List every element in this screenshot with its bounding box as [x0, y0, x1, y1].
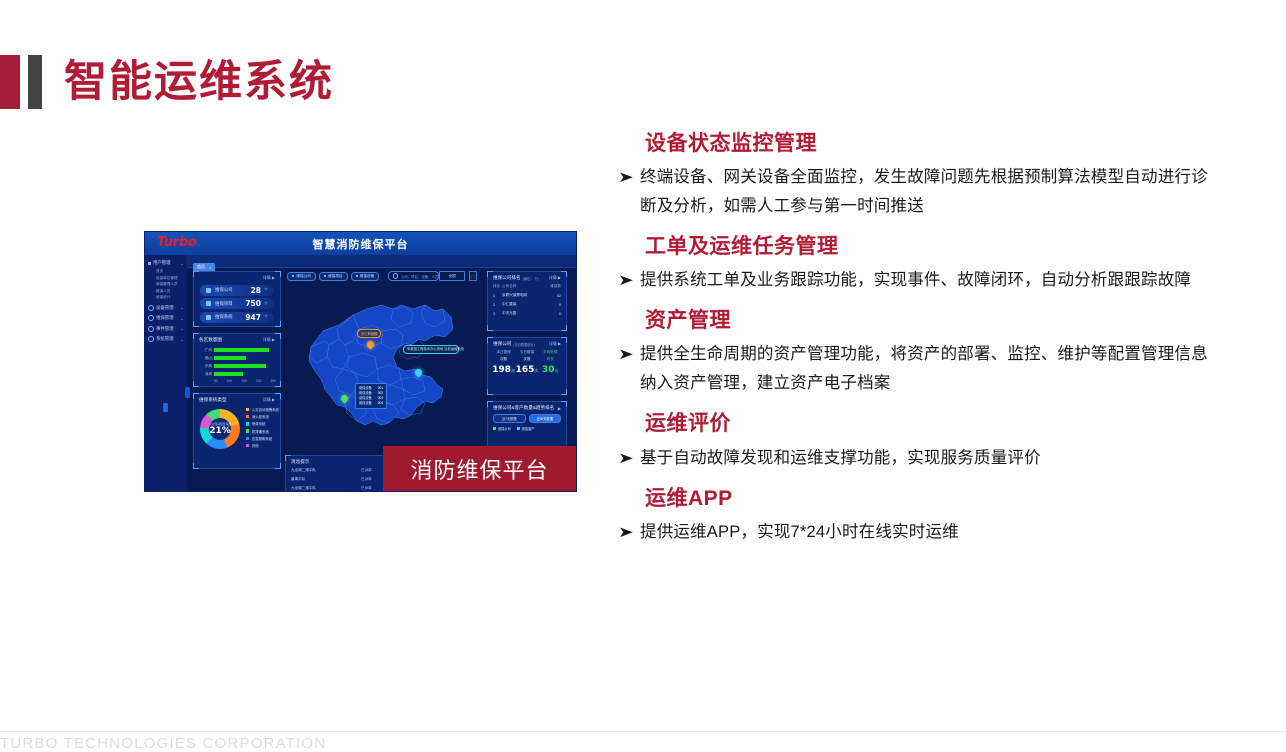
kpi-panel: 维保公司 (今日数据统计) 详情 ▶ 本日报修 次数 198次 今日维保 次数 …: [487, 337, 567, 395]
sidebar-item-event-management[interactable]: 事件管理 ⌄: [148, 326, 187, 332]
rank-panel-subtitle: (单位：个): [523, 276, 539, 281]
dashboard-title: 智慧消防维保平台: [145, 236, 576, 252]
bar-track: [214, 356, 276, 361]
legend-item: 消火栓系统: [246, 414, 279, 419]
bar-row: 深圳: [198, 370, 276, 378]
legend-item: 喷淋系统: [246, 421, 279, 426]
gear-icon: [148, 336, 154, 342]
sidebar-subitem-3[interactable]: 维保人员: [156, 289, 187, 294]
kpi-panel-subtitle: (今日数据统计): [513, 342, 534, 347]
arrow-bullet-icon: ➤: [618, 444, 646, 473]
map-toolbar: 维保公司 维保项目 维保设备 公司、项目、设备、人员 全国 ⛶: [287, 271, 479, 281]
kpi-column-avg-duration: 平均处理 时长 30分: [539, 350, 562, 375]
kpi-column-reports: 本日报修 次数 198次: [492, 350, 515, 375]
title-accent-bar-gray: [28, 55, 42, 109]
message-panel-title: 消息提示: [291, 459, 309, 465]
bar-fill: [214, 372, 243, 377]
bar-more-link[interactable]: 详情 ▶: [263, 337, 275, 343]
bar-row: 东莞: [198, 362, 276, 370]
caption-banner: 消防维保平台: [383, 446, 576, 491]
sidebar-collapse-handle[interactable]: [185, 387, 190, 398]
sidebar-item-label: 事件管理: [156, 326, 174, 332]
axis-tick: 100: [227, 379, 232, 383]
stat-value: 750: [245, 299, 261, 308]
trend-legend: 维保公司 维保客户: [488, 423, 566, 431]
trend-panel-head: 维保公司&客户数量&趋势排名 ▶: [488, 402, 566, 412]
stats-more-link[interactable]: 详情 ▶: [263, 275, 275, 281]
sidebar-item-label: 系统管理: [156, 336, 174, 342]
sidebar-subitem-0[interactable]: 首页: [156, 269, 187, 274]
stat-label: 维保系统: [215, 314, 233, 320]
stat-label: 维保项目: [215, 301, 233, 307]
feature-item-0: ➤ 终端设备、网关设备全面监控，发生故障问题先根据预制算法模型自动进行诊断及分析…: [618, 163, 1208, 221]
sidebar-item-device-management[interactable]: 设备管理 ⌄: [148, 305, 187, 311]
kpi-panel-head: 维保公司 (今日数据统计) 详情 ▶: [488, 338, 566, 348]
kpi-panel-title: 维保公司: [493, 341, 511, 347]
bar-panel-head: 各区数量图 详情 ▶: [194, 334, 280, 344]
stat-label: 维保公司: [215, 287, 233, 293]
bar-track: [214, 348, 276, 353]
axis-tick: 150: [241, 379, 246, 383]
dashboard-tab-bar: 首页 ×: [187, 255, 576, 268]
page-title: 智能运维系统: [64, 55, 334, 109]
map-search-input[interactable]: 公司、项目、设备、人员: [388, 271, 439, 281]
arrow-bullet-icon: ➤: [618, 163, 646, 192]
stat-unit: 个: [264, 314, 268, 320]
arrow-bullet-icon: ➤: [618, 340, 646, 369]
region-select[interactable]: 全国: [439, 271, 465, 281]
map-pin-cyan[interactable]: [415, 369, 422, 378]
feature-list: 设备状态监控管理 ➤ 终端设备、网关设备全面监控，发生故障问题先根据预制算法模型…: [618, 132, 1208, 561]
feature-heading-1: 工单及运维任务管理: [645, 235, 1208, 259]
maintenance-icon: [148, 315, 154, 321]
feature-text-1: 提供系统工单及业务跟踪功能，实现事件、故障闭环，自动分析跟跟踪故障: [640, 266, 1208, 295]
feature-heading-4: 运维APP: [645, 487, 1208, 511]
sidebar-group-user-management[interactable]: 用户管理 ⌄: [148, 260, 187, 266]
rank-more-link[interactable]: 详情 ▶: [549, 275, 561, 281]
dot-icon: [356, 275, 358, 277]
chevron-down-icon: ⌄: [181, 316, 184, 321]
chevron-down-icon: ⌄: [181, 337, 184, 342]
stat-value: 28: [251, 286, 261, 295]
donut-legend: 火灾自动报警系统 消火栓系统 喷淋系统 防排烟系统 应急照明系统 其他: [246, 407, 279, 450]
donut-chart-wrap: 火灾自动报警系统 21% 火灾自动报警系统 消火栓系统 喷淋系统 防排烟系统 应…: [194, 404, 280, 450]
company-icon: [206, 288, 211, 293]
bar-label: 深圳: [198, 372, 214, 377]
trend-range-buttons: 近7天数据 近30天数据: [488, 412, 566, 423]
bar-label: 佛山: [198, 356, 214, 361]
donut-more-link[interactable]: 详情 ▶: [263, 397, 275, 403]
sidebar-subitem-2[interactable]: 维保管理人员: [156, 282, 187, 287]
feature-item-3: ➤ 基于自动故障发现和运维支撑功能，实现服务质量评价: [618, 444, 1208, 473]
legend-item: 其他: [246, 443, 279, 448]
feature-block-0: 设备状态监控管理 ➤ 终端设备、网关设备全面监控，发生故障问题先根据预制算法模型…: [618, 132, 1208, 221]
bar-axis: 50 100 150 200 250: [214, 379, 276, 383]
footer-text: TURBO TECHNOLOGIES CORPORATION: [0, 735, 326, 752]
feature-block-2: 资产管理 ➤ 提供全生命周期的资产管理功能，将资产的部署、监控、维护等配置管理信…: [618, 309, 1208, 398]
district-bar-panel: 各区数量图 详情 ▶ 广州 佛山 东莞 深圳: [193, 333, 281, 387]
sidebar-toggle-handle[interactable]: [163, 403, 168, 412]
chevron-down-icon: ⌄: [181, 261, 184, 266]
feature-text-2: 提供全生命周期的资产管理功能，将资产的部署、监控、维护等配置管理信息纳入资产管理…: [640, 340, 1208, 398]
donut-panel-title: 维保系统类型: [199, 397, 227, 403]
bar-fill: [214, 356, 246, 361]
map-label-cyan[interactable]: 甲基团工程技术办公用地 当前运维系统: [403, 345, 459, 354]
rank-panel-head: 维保公司排名 (单位：个) 详情 ▶: [488, 272, 566, 282]
feature-item-4: ➤ 提供运维APP，实现7*24小时在线实时运维: [618, 518, 1208, 547]
map-filter-project[interactable]: 维保项目: [319, 272, 348, 281]
system-type-donut-panel: 维保系统类型 详情 ▶ 火灾自动报警系统 21% 火灾自动报警系统 消火栓系统 …: [193, 393, 281, 469]
bar-row: 佛山: [198, 354, 276, 362]
stat-row-project: 维保项目 750 个: [200, 298, 274, 309]
event-icon: [148, 326, 154, 332]
kpi-more-link[interactable]: 详情 ▶: [549, 341, 561, 347]
feature-block-1: 工单及运维任务管理 ➤ 提供系统工单及业务跟踪功能，实现事件、故障闭环，自动分析…: [618, 235, 1208, 295]
bar-row: 广州: [198, 346, 276, 354]
company-rank-panel: 维保公司排名 (单位：个) 详情 ▶ 排名 公司名称 维保数 1 京联兴保票电网…: [487, 271, 567, 331]
feature-item-1: ➤ 提供系统工单及业务跟踪功能，实现事件、故障闭环，自动分析跟跟踪故障: [618, 266, 1208, 295]
map-pin-green[interactable]: [341, 395, 348, 404]
bar-label: 东莞: [198, 364, 214, 369]
stat-row-company: 维保公司 28 个: [200, 285, 274, 296]
arrow-bullet-icon: ➤: [618, 518, 646, 547]
bar-fill: [214, 364, 266, 369]
stat-unit: 个: [264, 287, 268, 293]
feature-text-3: 基于自动故障发现和运维支撑功能，实现服务质量评价: [640, 444, 1208, 473]
sidebar-item-label: 维保管理: [156, 315, 174, 321]
stat-value: 947: [245, 313, 261, 322]
feature-heading-2: 资产管理: [645, 309, 1208, 333]
stats-panel: 详情 ▶ 维保公司 28 个 维保项目 750 个 维保系统 947 个: [193, 271, 281, 327]
legend-item: 防排烟系统: [246, 429, 279, 434]
dashboard-header: Turbo 智慧消防维保平台: [145, 232, 576, 255]
feature-block-4: 运维APP ➤ 提供运维APP，实现7*24小时在线实时运维: [618, 487, 1208, 547]
china-map-area: 维保公司 维保项目 维保设备 公司、项目、设备、人员 全国 ⛶: [285, 271, 481, 469]
table-row: 2 中仁建保 0: [488, 300, 566, 309]
donut-center-value: 21%: [209, 426, 231, 436]
rank-table-header: 排名 公司名称 维保数: [488, 282, 566, 291]
sidebar-item-label: 设备管理: [156, 305, 174, 311]
bar-track: [214, 364, 276, 369]
feature-block-3: 运维评价 ➤ 基于自动故障发现和运维支撑功能，实现服务质量评价: [618, 412, 1208, 472]
tab-label: 首页: [197, 264, 205, 270]
dot-icon: [324, 275, 326, 277]
china-map-svg: [293, 285, 473, 461]
trend-range-7d[interactable]: 近7天数据: [493, 414, 526, 423]
chevron-down-icon: ⌄: [181, 305, 184, 310]
building-icon: [206, 301, 211, 306]
feature-text-0: 终端设备、网关设备全面监控，发生故障问题先根据预制算法模型自动进行诊断及分析，如…: [640, 163, 1208, 221]
donut-center: 火灾自动报警系统 21%: [209, 418, 231, 440]
map-pin-orange[interactable]: [367, 341, 374, 350]
table-row: 1 京联兴保票电网 02: [488, 291, 566, 300]
kpi-column-maintenance: 今日维保 次数 165次: [515, 350, 538, 375]
trend-more-link[interactable]: ▶: [558, 406, 561, 411]
sidebar-item-system-management[interactable]: 系统管理 ⌄: [148, 336, 187, 342]
sidebar-subitem-4[interactable]: 维保统计: [156, 295, 187, 300]
bar-chart: 广州 佛山 东莞 深圳: [198, 346, 276, 378]
close-icon[interactable]: ×: [209, 265, 211, 270]
table-row: 3 中天元国 0: [488, 309, 566, 318]
axis-tick: 200: [256, 379, 261, 383]
kpi-grid: 本日报修 次数 198次 今日维保 次数 165次 平均处理 时长 30分: [488, 348, 566, 375]
legend-item: 维保公司: [493, 426, 511, 431]
feature-text-4: 提供运维APP，实现7*24小时在线实时运维: [640, 518, 1208, 547]
sidebar-subitem-1[interactable]: 维保单位管理: [156, 276, 187, 281]
arrow-bullet-icon: ➤: [618, 266, 646, 295]
legend-item: 火灾自动报警系统: [246, 407, 279, 412]
legend-item: 应急照明系统: [246, 436, 279, 441]
donut-panel-head: 维保系统类型 详情 ▶: [194, 394, 280, 404]
square-icon: [148, 262, 151, 265]
donut-chart: 火灾自动报警系统 21%: [200, 409, 240, 449]
device-icon: [148, 305, 154, 311]
footer-divider: [0, 731, 1286, 732]
map-label-orange[interactable]: 中仁科技园: [357, 329, 381, 338]
map-tooltip: 维保设备001 维保设备002 维保设备003 维保设备004: [355, 383, 387, 409]
stats-panel-head: 详情 ▶: [194, 272, 280, 282]
bar-label: 广州: [198, 348, 214, 353]
dot-icon: [292, 275, 294, 277]
rank-panel-title: 维保公司排名: [493, 275, 521, 281]
axis-tick: 50: [214, 379, 218, 383]
trend-panel-title: 维保公司&客户数量&趋势排名: [493, 405, 554, 411]
stat-row-system: 维保系统 947 个: [200, 312, 274, 323]
fullscreen-icon[interactable]: ⛶: [469, 271, 477, 281]
title-accent-bar-red: [0, 55, 20, 109]
legend-item: 维保客户: [517, 426, 535, 431]
sidebar-item-maintenance-management[interactable]: 维保管理 ⌄: [148, 315, 187, 321]
stat-unit: 个: [264, 301, 268, 307]
system-icon: [206, 315, 211, 320]
search-icon: [393, 273, 398, 278]
dashboard-sidebar: 用户管理 ⌄ 首页 维保单位管理 维保管理人员 维保人员 维保统计 设备管理 ⌄…: [145, 255, 187, 491]
feature-item-2: ➤ 提供全生命周期的资产管理功能，将资产的部署、监控、维护等配置管理信息纳入资产…: [618, 340, 1208, 398]
bar-track: [214, 372, 276, 377]
slide-title-row: 智能运维系统: [0, 55, 334, 109]
map-filter-device[interactable]: 维保设备: [351, 272, 380, 281]
map-filter-company[interactable]: 维保公司: [287, 272, 316, 281]
chevron-down-icon: ⌄: [181, 326, 184, 331]
feature-heading-0: 设备状态监控管理: [645, 132, 1208, 156]
bar-panel-title: 各区数量图: [199, 337, 222, 343]
bar-fill: [214, 348, 269, 353]
feature-heading-3: 运维评价: [645, 412, 1208, 436]
trend-range-30d[interactable]: 近30天数据: [529, 414, 562, 423]
sidebar-group-label: 用户管理: [153, 260, 171, 266]
